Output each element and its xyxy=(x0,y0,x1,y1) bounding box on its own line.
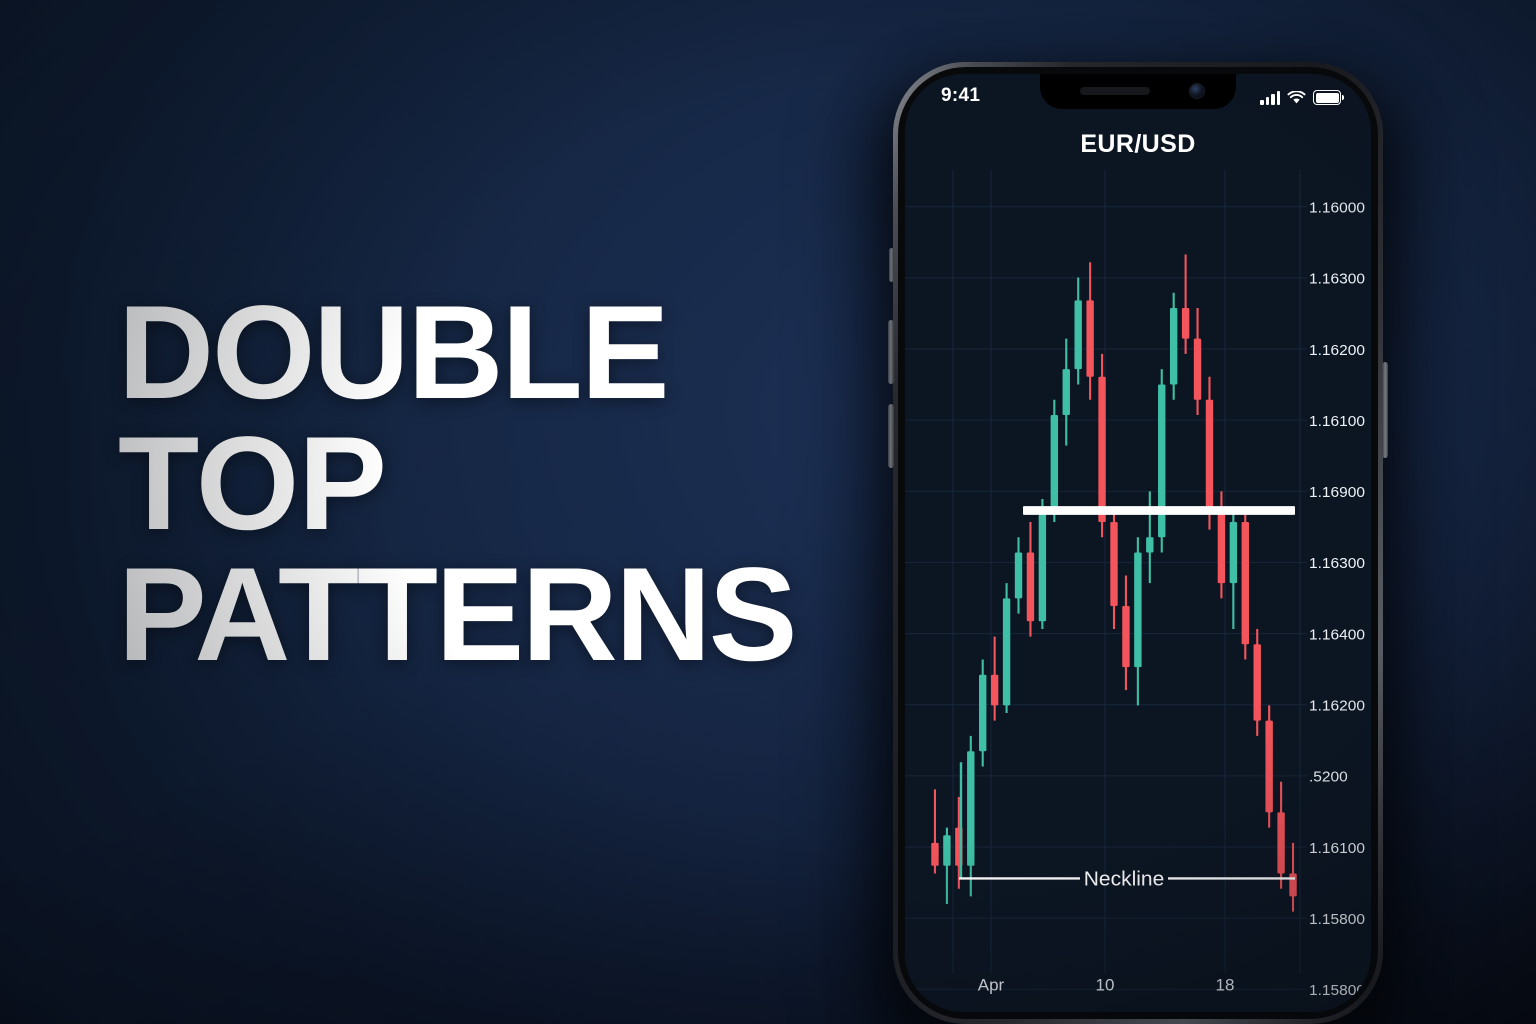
candle-body xyxy=(1194,339,1201,400)
candle-body xyxy=(1015,553,1022,599)
chart-svg[interactable]: 1.160001.163001.162001.161001.169001.163… xyxy=(905,170,1371,1012)
candlestick xyxy=(979,660,986,767)
power-button[interactable] xyxy=(1382,362,1388,458)
y-axis-tick-label: 1.16200 xyxy=(1309,342,1365,359)
candle-body xyxy=(1051,415,1058,514)
candle-body xyxy=(1027,553,1034,622)
y-axis-tick-label: 1.15800 xyxy=(1309,911,1365,928)
headline-line-1: DOUBLE xyxy=(118,288,878,419)
candle-body xyxy=(1206,400,1213,515)
volume-down-button[interactable] xyxy=(888,404,894,468)
candle-body xyxy=(1289,873,1296,896)
candle-body xyxy=(1110,522,1117,606)
x-axis-tick-label: 18 xyxy=(1216,976,1235,995)
candle-body xyxy=(1063,369,1070,415)
y-axis-tick-label: 1.15800 xyxy=(1309,982,1365,999)
candlestick xyxy=(1158,369,1165,552)
y-axis-tick-label: 1.16300 xyxy=(1309,271,1365,288)
candle-body xyxy=(943,835,950,866)
candlestick xyxy=(1170,293,1177,400)
candle-body xyxy=(1003,598,1010,705)
candle-body xyxy=(1254,644,1261,720)
candlestick-chart[interactable]: 1.160001.163001.162001.161001.169001.163… xyxy=(905,170,1371,1012)
candlestick xyxy=(1051,400,1058,522)
earpiece-speaker-icon xyxy=(1080,87,1150,95)
chart-title: EUR/USD xyxy=(905,130,1371,159)
resistance-line xyxy=(1023,506,1295,515)
candle-body xyxy=(1086,300,1093,376)
y-axis-tick-label: 1.16400 xyxy=(1309,627,1365,644)
candle-body xyxy=(1170,308,1177,384)
candle-body xyxy=(1146,537,1153,552)
wifi-icon xyxy=(1287,91,1306,105)
y-axis-tick-label: 1.16900 xyxy=(1309,484,1365,501)
candle-body xyxy=(1098,377,1105,522)
headline-line-2: TOP xyxy=(118,419,878,550)
candle-body xyxy=(931,843,938,866)
status-indicators xyxy=(1260,87,1341,105)
phone-screen: 9:41 EUR/USD 1.160001.163001.162001.1 xyxy=(905,74,1371,1012)
candle-body xyxy=(1218,514,1225,583)
candle-body xyxy=(1277,812,1284,873)
candle-body xyxy=(991,675,998,706)
candlestick xyxy=(1242,507,1249,660)
x-axis-tick-label: Apr xyxy=(978,976,1005,995)
candle-body xyxy=(1074,300,1081,369)
silent-switch[interactable] xyxy=(889,248,894,282)
candlestick xyxy=(1039,499,1046,629)
notch xyxy=(1040,74,1236,109)
front-camera-icon xyxy=(1190,84,1204,98)
candle-body xyxy=(1122,606,1129,667)
cellular-bars-icon xyxy=(1260,91,1280,105)
candlestick xyxy=(1254,629,1261,736)
y-axis-tick-label: 1.16100 xyxy=(1309,413,1365,430)
neckline-label: Neckline xyxy=(1084,868,1165,891)
battery-full-icon xyxy=(1313,90,1341,105)
candle-body xyxy=(1242,522,1249,644)
headline-line-3: PATTERNS xyxy=(118,550,878,681)
candle-body xyxy=(1265,721,1272,813)
page-title: DOUBLE TOP PATTERNS xyxy=(118,288,878,681)
candle-body xyxy=(1182,308,1189,339)
poster-canvas: DOUBLE TOP PATTERNS 9:41 xyxy=(0,0,1536,1024)
y-axis-tick-label: 1.16300 xyxy=(1309,555,1365,572)
phone-mockup: 9:41 EUR/USD 1.160001.163001.162001.1 xyxy=(893,62,1383,1024)
y-axis-tick-label: 1.16000 xyxy=(1309,200,1365,217)
candle-body xyxy=(967,751,974,866)
candlestick xyxy=(1265,705,1272,827)
y-axis-tick-label: .5200 xyxy=(1309,769,1348,786)
candle-body xyxy=(979,675,986,751)
x-axis-tick-label: 10 xyxy=(1096,976,1115,995)
volume-up-button[interactable] xyxy=(888,320,894,384)
candle-body xyxy=(1039,514,1046,621)
y-axis-tick-label: 1.16200 xyxy=(1309,698,1365,715)
candle-body xyxy=(1134,553,1141,668)
status-time: 9:41 xyxy=(941,85,980,107)
candlestick xyxy=(1003,583,1010,713)
y-axis-tick-label: 1.16100 xyxy=(1309,840,1365,857)
candle-body xyxy=(1230,522,1237,583)
